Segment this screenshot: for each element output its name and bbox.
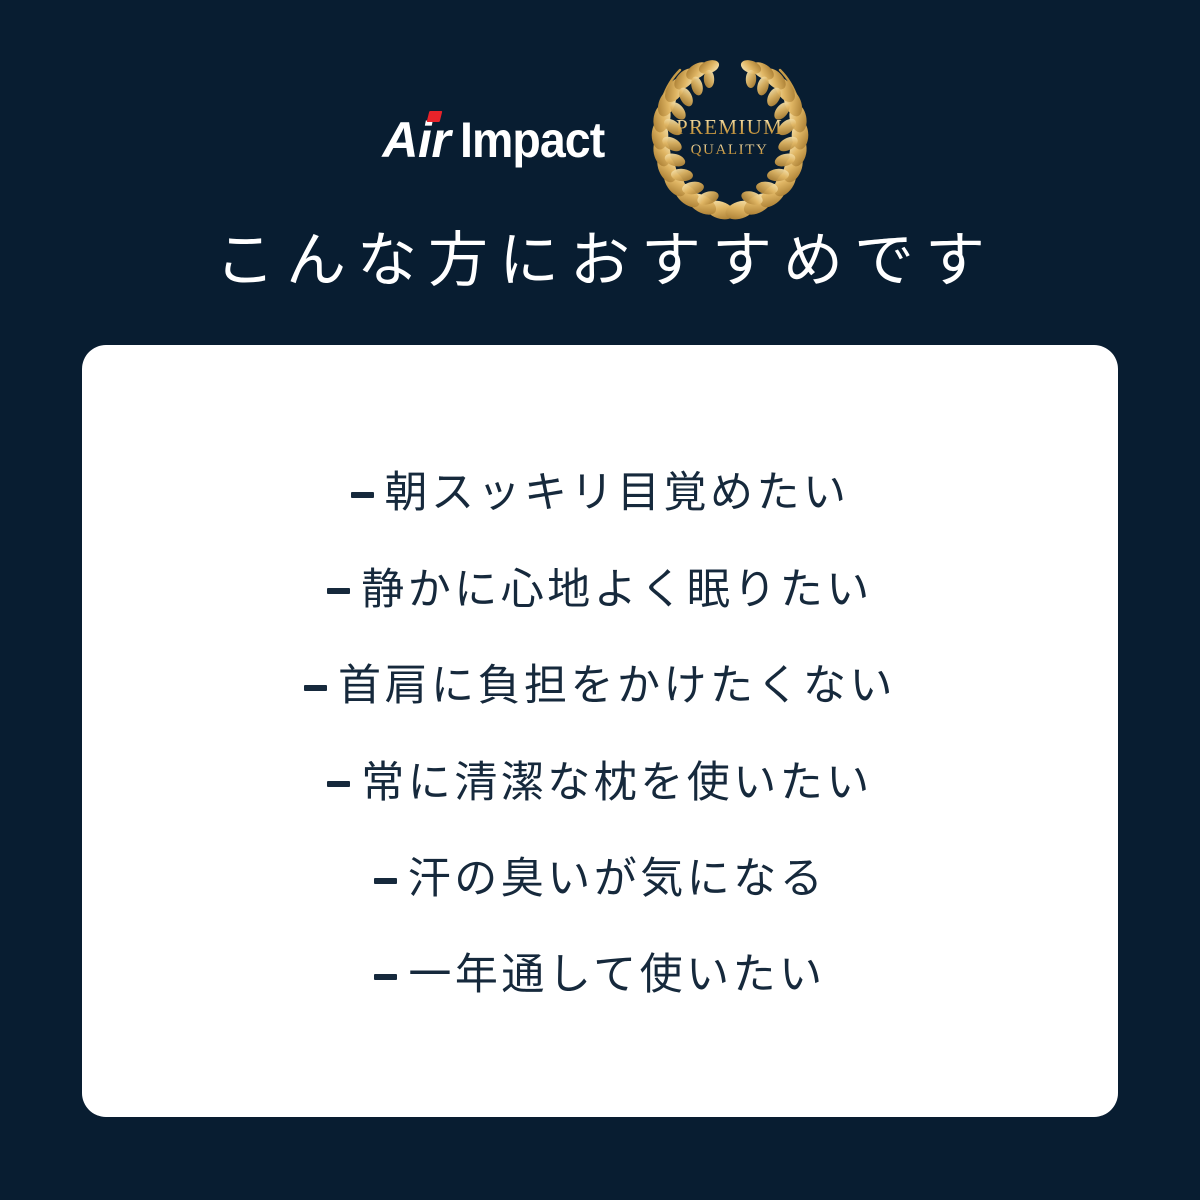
badge-quality-label: QUALITY — [676, 143, 783, 158]
list-item-label: 朝スッキリ目覚めたい — [385, 469, 850, 518]
wordmark-air: Air — [382, 115, 450, 165]
page-title: こんな方におすすめです — [0, 228, 1200, 294]
wordmark-impact: Impact — [460, 115, 604, 165]
premium-quality-badge: PREMIUM QUALITY — [642, 48, 818, 224]
dash-icon — [374, 878, 397, 884]
promo-poster: Air Impact — [0, 0, 1200, 1200]
list-item-label: 常に清潔な枕を使いたい — [361, 759, 873, 808]
list-item-label: 一年通して使いたい — [408, 951, 825, 1000]
dash-icon — [374, 974, 397, 980]
badge-label-group: PREMIUM QUALITY — [676, 117, 783, 158]
list-item: 常に清潔な枕を使いたい — [327, 759, 873, 808]
dash-icon — [351, 492, 374, 498]
brand-wordmark: Air Impact — [382, 115, 615, 165]
list-item-label: 首肩に負担をかけたくない — [338, 662, 896, 711]
list-item-label: 静かに心地よく眠りたい — [361, 566, 873, 615]
list-item: 朝スッキリ目覚めたい — [351, 469, 850, 518]
dash-icon — [304, 685, 327, 691]
benefits-card: 朝スッキリ目覚めたい 静かに心地よく眠りたい 首肩に負担をかけたくない 常に清潔… — [82, 345, 1118, 1117]
list-item-label: 汗の臭いが気になる — [408, 855, 827, 904]
benefits-list: 朝スッキリ目覚めたい 静かに心地よく眠りたい 首肩に負担をかけたくない 常に清潔… — [112, 469, 1088, 1001]
wordmark-air-text: Air — [382, 112, 450, 168]
badge-premium-label: PREMIUM — [676, 117, 783, 138]
dash-icon — [327, 781, 350, 787]
list-item: 首肩に負担をかけたくない — [304, 662, 896, 711]
list-item: 汗の臭いが気になる — [374, 855, 827, 904]
list-item: 静かに心地よく眠りたい — [327, 566, 873, 615]
dash-icon — [327, 588, 350, 594]
list-item: 一年通して使いたい — [374, 951, 825, 1000]
brand-header: Air Impact — [0, 48, 1200, 224]
